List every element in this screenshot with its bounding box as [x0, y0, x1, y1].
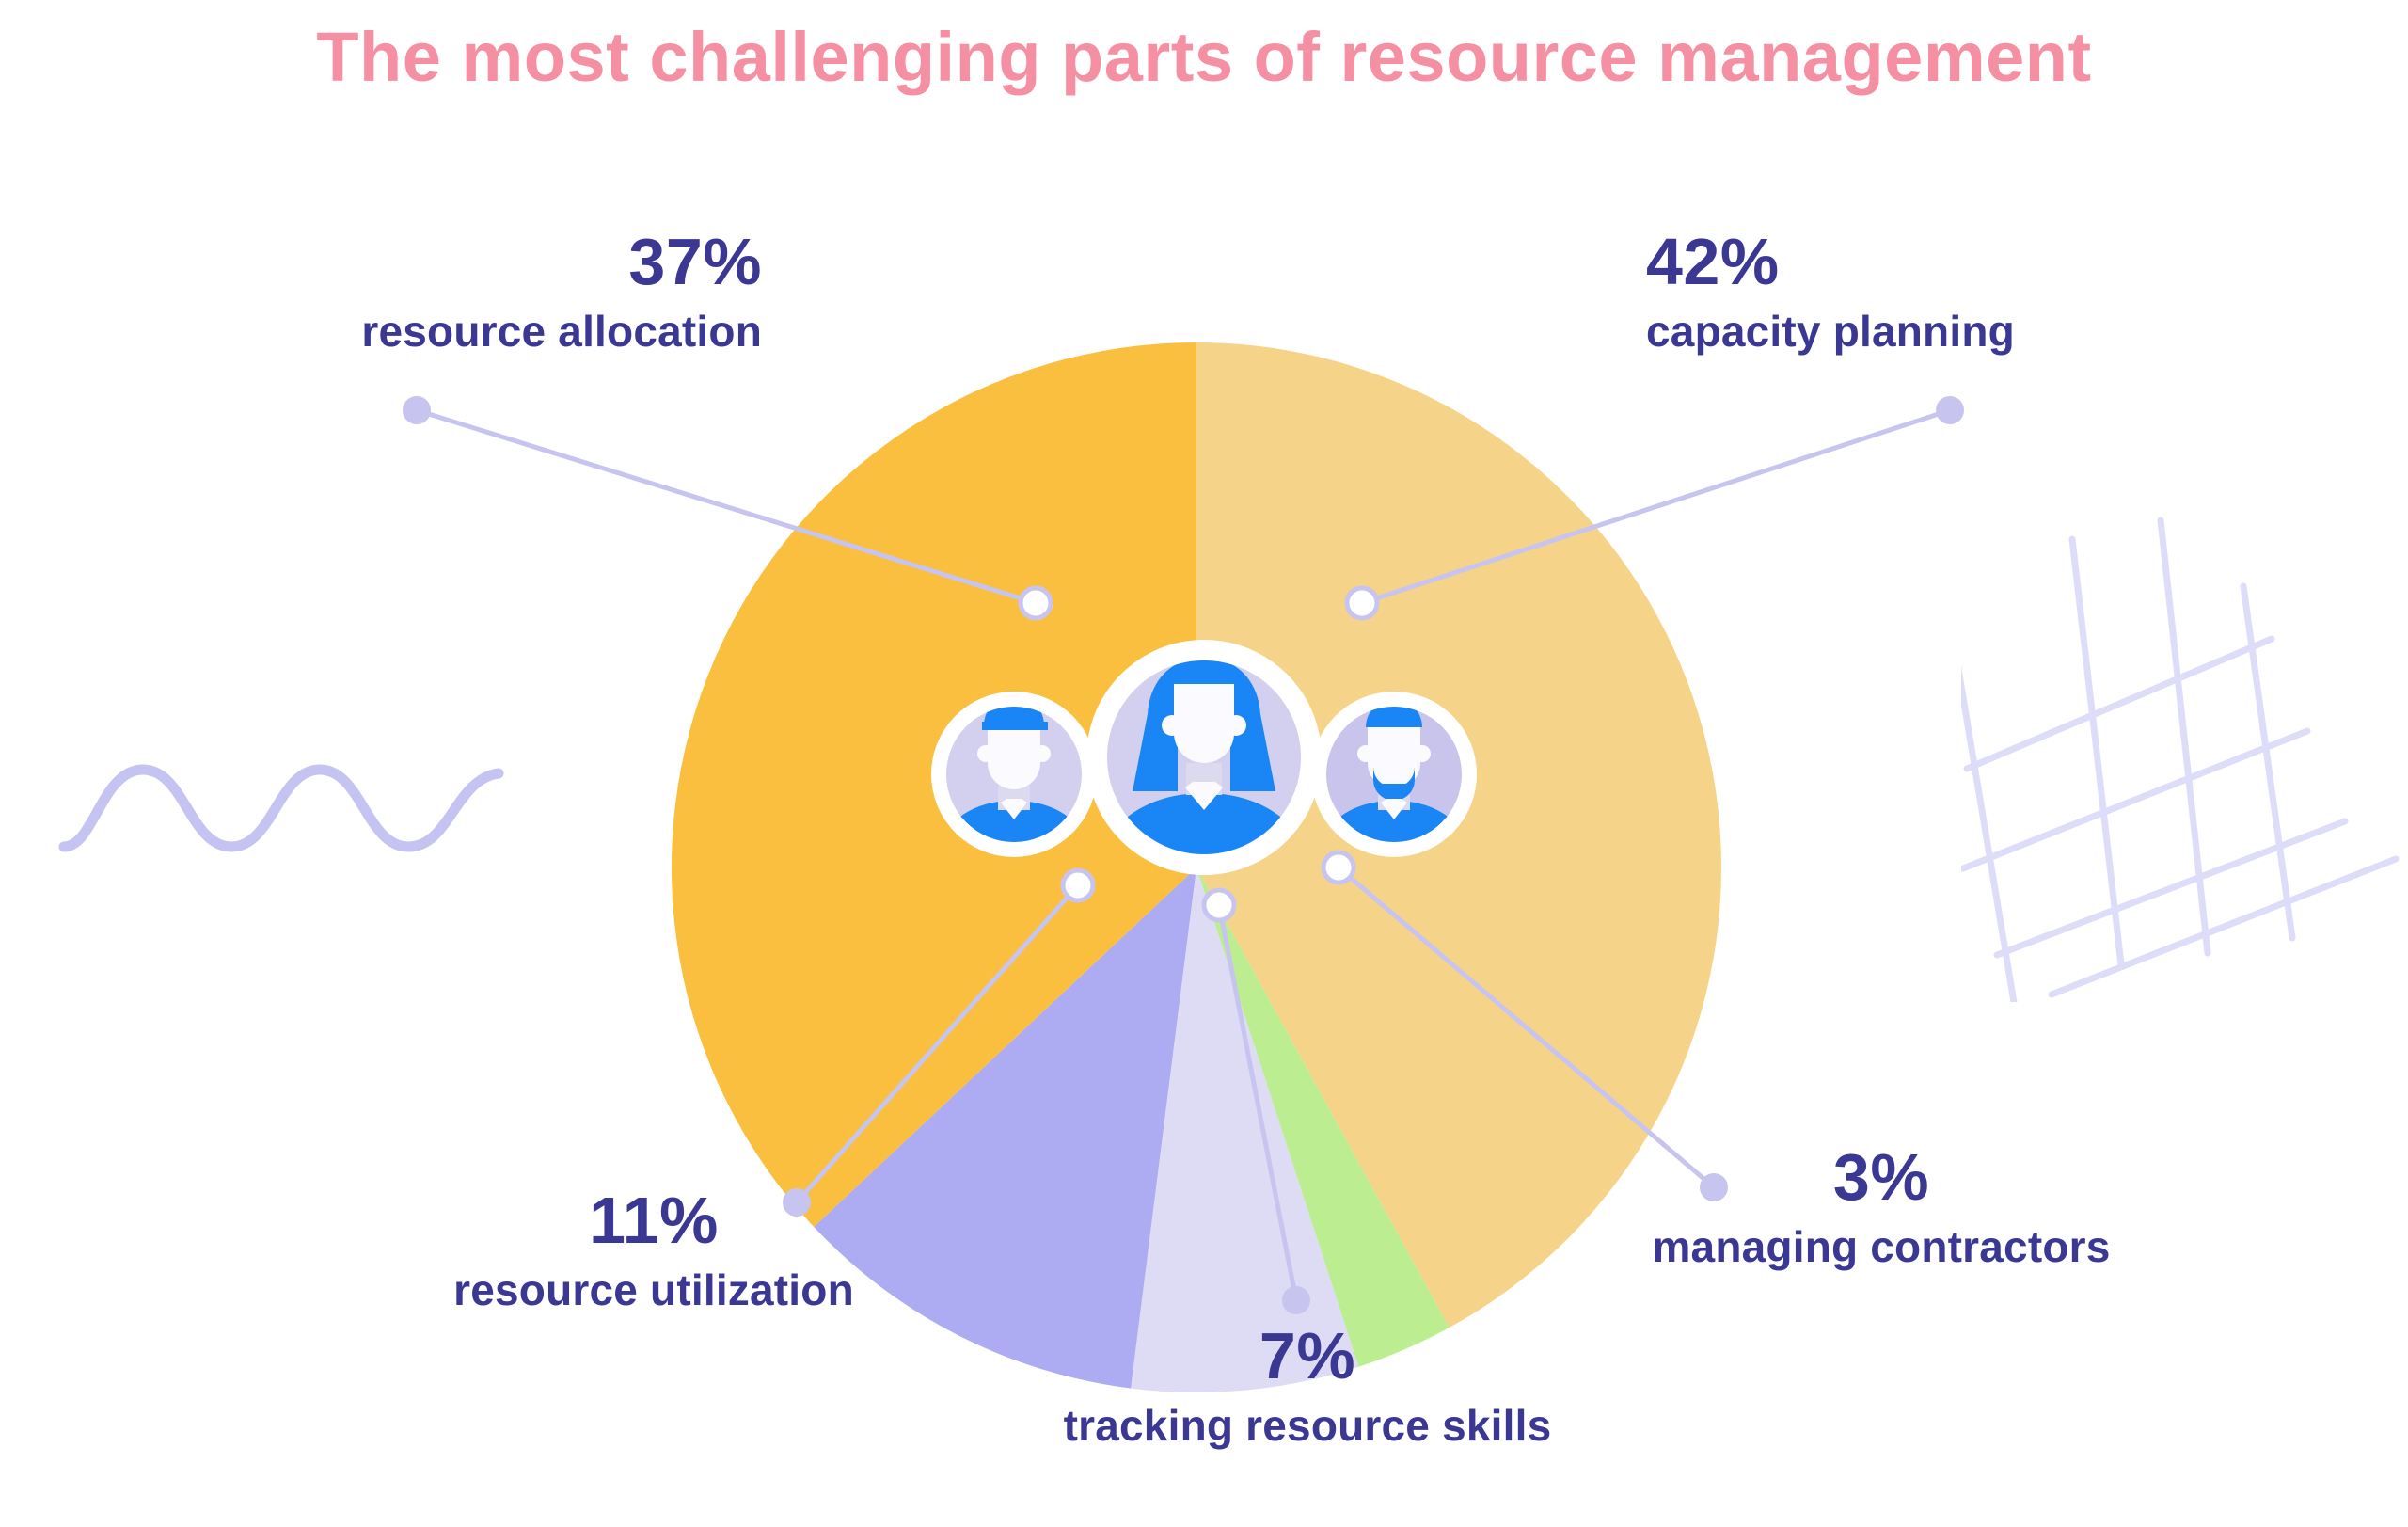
callout-percent-resource-allocation: 37%: [66, 229, 762, 294]
avatar-cluster: [903, 616, 1505, 927]
avatar-right[interactable]: [1311, 692, 1477, 868]
callout-capacity-planning: 42% capacity planning: [1646, 229, 2342, 353]
callout-caption-tracking-resource-skills: tracking resource skills: [922, 1404, 1693, 1447]
callout-percent-tracking-resource-skills: 7%: [922, 1323, 1693, 1389]
callout-caption-resource-allocation: resource allocation: [66, 310, 762, 353]
avatar-left[interactable]: [931, 692, 1097, 868]
callout-percent-managing-contractors: 3%: [1467, 1144, 2295, 1210]
leader-endpoint-dot-resource-allocation: [403, 396, 431, 424]
callout-percent-resource-utilization: 11%: [310, 1187, 997, 1253]
callout-managing-contractors: 3% managing contractors: [1467, 1144, 2295, 1268]
infographic-canvas: The most challenging parts of resource m…: [0, 0, 2408, 1527]
leader-endpoint-dot-tracking-resource-skills: [1282, 1286, 1310, 1314]
callout-caption-resource-utilization: resource utilization: [310, 1268, 997, 1312]
leader-endpoint-ring-capacity-planning: [1347, 588, 1377, 618]
leader-endpoint-dot-capacity-planning: [1936, 396, 1964, 424]
callout-caption-managing-contractors: managing contractors: [1467, 1225, 2295, 1268]
callout-tracking-resource-skills: 7% tracking resource skills: [922, 1323, 1693, 1447]
leader-endpoint-ring-resource-allocation: [1021, 588, 1051, 618]
callout-resource-allocation: 37% resource allocation: [66, 229, 762, 353]
callout-caption-capacity-planning: capacity planning: [1646, 310, 2342, 353]
avatar-center[interactable]: [1086, 640, 1322, 887]
callout-resource-utilization: 11% resource utilization: [310, 1187, 997, 1312]
callout-percent-capacity-planning: 42%: [1646, 229, 2342, 294]
